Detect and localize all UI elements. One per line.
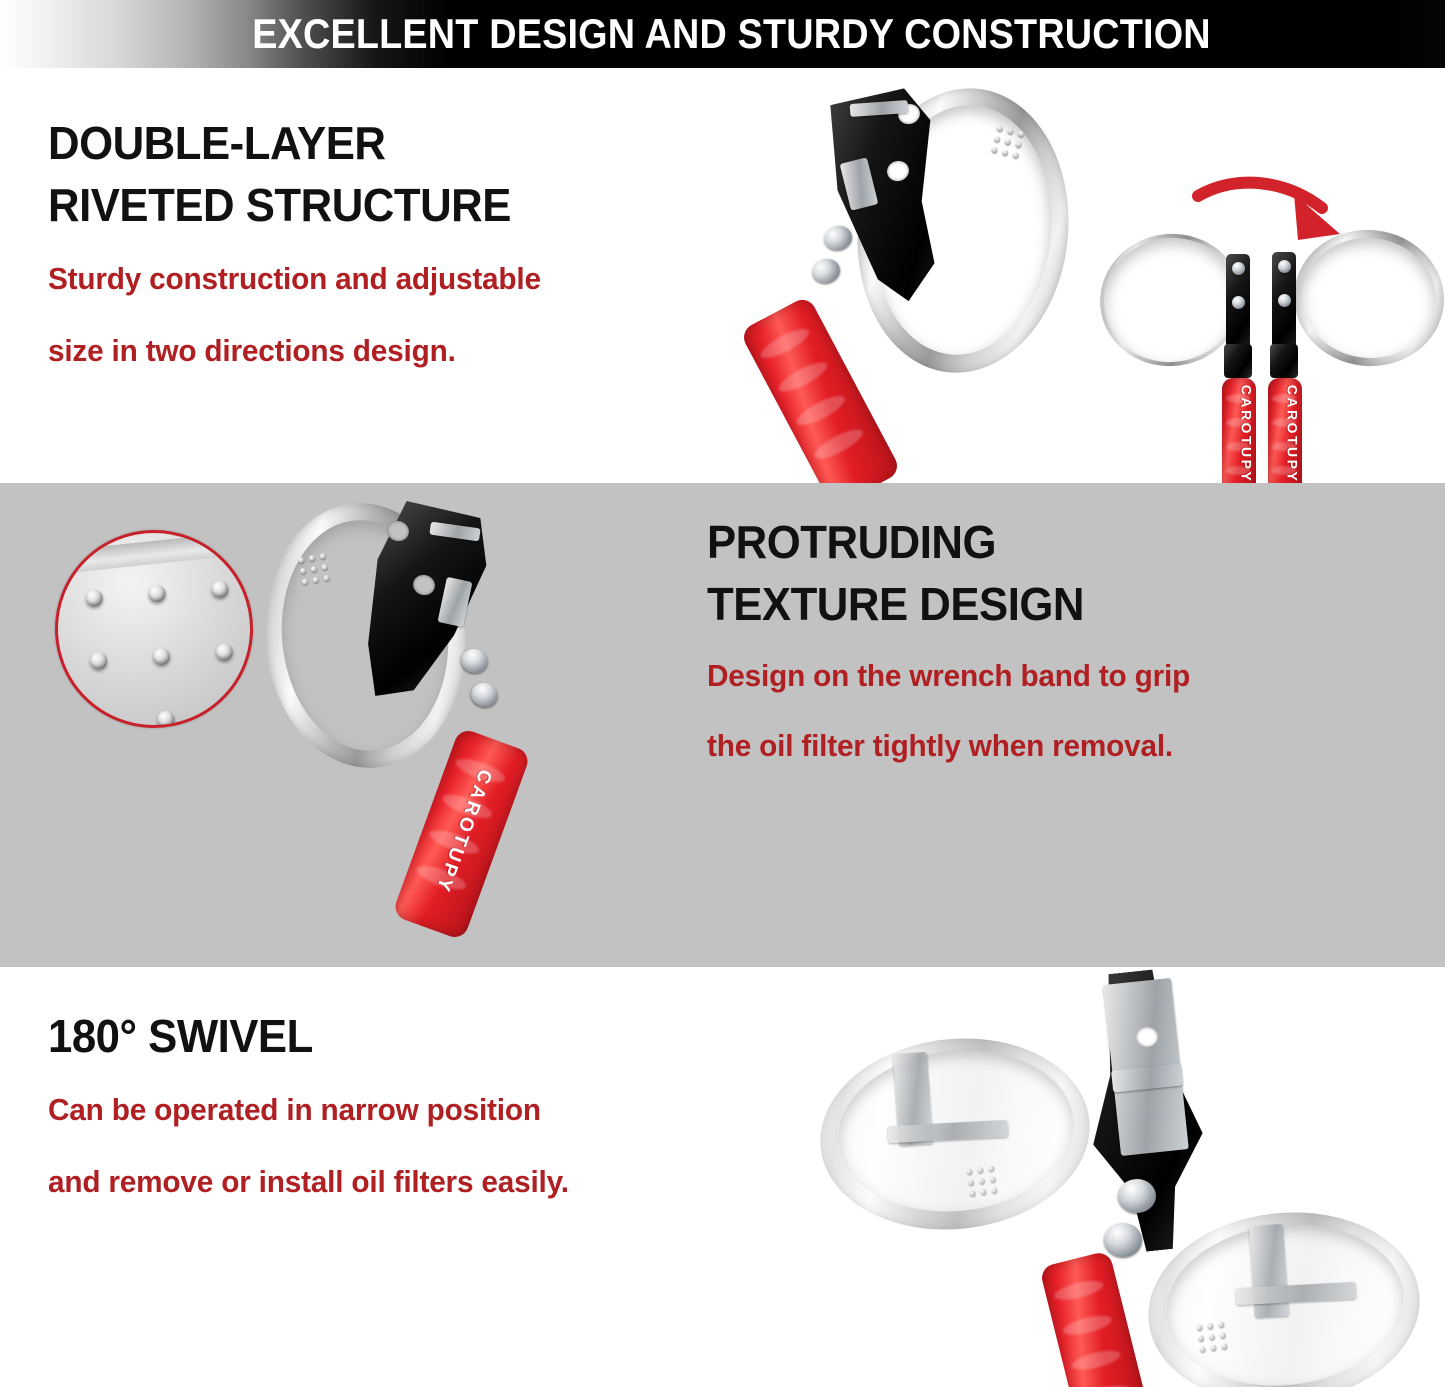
rivet xyxy=(1210,1345,1217,1352)
rivet xyxy=(968,1179,975,1186)
rivet xyxy=(1007,128,1014,135)
rivet xyxy=(996,125,1003,132)
section-1-body-line-2: size in two directions design. xyxy=(48,322,541,380)
section-double-layer-riveted-structure: DOUBLE-LAYER RIVETED STRUCTURE Sturdy co… xyxy=(0,68,1445,483)
small-wrench-right-handle: CAROTUPY xyxy=(1268,378,1302,483)
band-rivet-texture xyxy=(298,553,330,585)
grip-notch xyxy=(793,391,848,430)
small-wrench-right-bolt-top xyxy=(1278,260,1291,273)
wrench-bolt-upper xyxy=(821,223,855,254)
section-2-body-line-1: Design on the wrench band to grip xyxy=(707,647,1190,705)
rivet xyxy=(1199,1346,1206,1353)
rivet xyxy=(1218,1321,1225,1328)
section-1-main-wrench-image xyxy=(740,78,1120,478)
rivet xyxy=(323,574,330,581)
grip-notch xyxy=(1079,1382,1131,1387)
magnified-rivet xyxy=(215,643,233,661)
section-1-body-line-1: Sturdy construction and adjustable xyxy=(48,250,541,308)
magnified-rivet-grid xyxy=(85,580,238,728)
rivet xyxy=(1196,1324,1203,1331)
small-wrench-left-bolt-top xyxy=(1232,262,1245,275)
magnified-rivet xyxy=(85,589,103,607)
section-180-degree-swivel: 180° SWIVEL Can be operated in narrow po… xyxy=(0,967,1445,1387)
small-wrench-left-collar xyxy=(1224,344,1252,378)
section-2-main-wrench-image: CAROTUPY xyxy=(270,483,640,967)
section-3-body-line-1: Can be operated in narrow position xyxy=(48,1081,569,1139)
section-3-heading-line-1: 180° SWIVEL xyxy=(48,1005,563,1067)
page-title: EXCELLENT DESIGN AND STURDY CONSTRUCTION xyxy=(72,0,1373,68)
rivet xyxy=(309,555,316,562)
handle-brand-label-left: CAROTUPY xyxy=(1238,385,1254,483)
rivet xyxy=(979,1178,986,1185)
rivet xyxy=(1221,1343,1228,1350)
section-1-adjustment-pair-image: CAROTUPY CAROTUPY xyxy=(1148,218,1445,478)
swivel-ratchet-hole xyxy=(1136,1027,1158,1047)
magnified-rivet xyxy=(90,652,108,670)
wrench-bolt-lower xyxy=(468,680,501,711)
swivel-bolt-upper xyxy=(1118,1179,1156,1213)
rivet xyxy=(1002,149,1009,156)
magnified-rivet xyxy=(94,715,112,728)
magnified-band-edge xyxy=(55,530,253,575)
rivet xyxy=(994,136,1001,143)
rivet xyxy=(312,576,319,583)
swivel-red-handle xyxy=(1039,1250,1150,1387)
rivet xyxy=(302,578,309,585)
rivet xyxy=(319,553,326,560)
section-3-swivel-image xyxy=(800,967,1445,1387)
wrench-red-handle: CAROTUPY xyxy=(392,727,532,941)
section-3-body-line-2: and remove or install oil filters easily… xyxy=(48,1153,569,1211)
band-rivet-texture xyxy=(1196,1321,1228,1353)
rivet xyxy=(300,567,307,574)
grip-notch xyxy=(1070,1347,1122,1374)
section-2-heading-line-1: PROTRUDING xyxy=(707,511,1185,573)
grip-notch xyxy=(775,357,830,396)
rivet xyxy=(1209,1334,1216,1341)
section-1-heading-line-2: RIVETED STRUCTURE xyxy=(48,174,536,236)
rivet xyxy=(991,1187,998,1194)
small-wrench-right-bolt-mid xyxy=(1278,294,1291,307)
rivet xyxy=(1220,1332,1227,1339)
rivet xyxy=(966,1168,973,1175)
section-2-heading-line-2: TEXTURE DESIGN xyxy=(707,573,1185,635)
magnified-rivet xyxy=(220,706,238,724)
rivet xyxy=(1198,1335,1205,1342)
rivet xyxy=(988,1165,995,1172)
grip-notch xyxy=(1053,1277,1105,1304)
section-protruding-texture-design: PROTRUDING TEXTURE DESIGN Design on the … xyxy=(0,483,1445,967)
section-1-heading-line-1: DOUBLE-LAYER xyxy=(48,112,536,174)
magnified-rivet xyxy=(157,710,175,728)
section-3-text-block: 180° SWIVEL Can be operated in narrow po… xyxy=(48,1005,591,1211)
rivet xyxy=(990,1176,997,1183)
rivet xyxy=(969,1190,976,1197)
rivet xyxy=(298,557,305,564)
small-wrench-right-collar xyxy=(1270,344,1298,378)
swivel-bolt-lower xyxy=(1104,1223,1142,1257)
grip-notch xyxy=(811,424,866,463)
rivet xyxy=(991,146,998,153)
magnifier-icon xyxy=(55,530,253,728)
magnified-rivet xyxy=(148,585,166,603)
rivet xyxy=(980,1189,987,1196)
section-1-text-block: DOUBLE-LAYER RIVETED STRUCTURE Sturdy co… xyxy=(48,112,561,380)
small-wrench-left-bolt-mid xyxy=(1232,296,1245,309)
wrench-red-handle xyxy=(739,295,902,483)
wrench-bolt-lower xyxy=(809,256,843,287)
small-wrench-left-handle: CAROTUPY xyxy=(1222,378,1256,483)
section-2-text-block: PROTRUDING TEXTURE DESIGN Design on the … xyxy=(707,511,1210,775)
grip-notch xyxy=(1061,1312,1113,1339)
rivet xyxy=(1004,138,1011,145)
handle-brand-label-right: CAROTUPY xyxy=(1284,385,1300,483)
magnified-rivet xyxy=(211,580,229,598)
rivet xyxy=(977,1167,984,1174)
grip-notch xyxy=(757,324,812,363)
band-rivet-texture xyxy=(966,1165,998,1197)
header-banner: EXCELLENT DESIGN AND STURDY CONSTRUCTION xyxy=(0,0,1445,68)
product-infographic: EXCELLENT DESIGN AND STURDY CONSTRUCTION… xyxy=(0,0,1445,1387)
rivet xyxy=(311,566,318,573)
rivet xyxy=(321,564,328,571)
magnified-rivet xyxy=(152,647,170,665)
section-2-body-line-2: the oil filter tightly when removal. xyxy=(707,717,1190,775)
rivet xyxy=(1207,1323,1214,1330)
